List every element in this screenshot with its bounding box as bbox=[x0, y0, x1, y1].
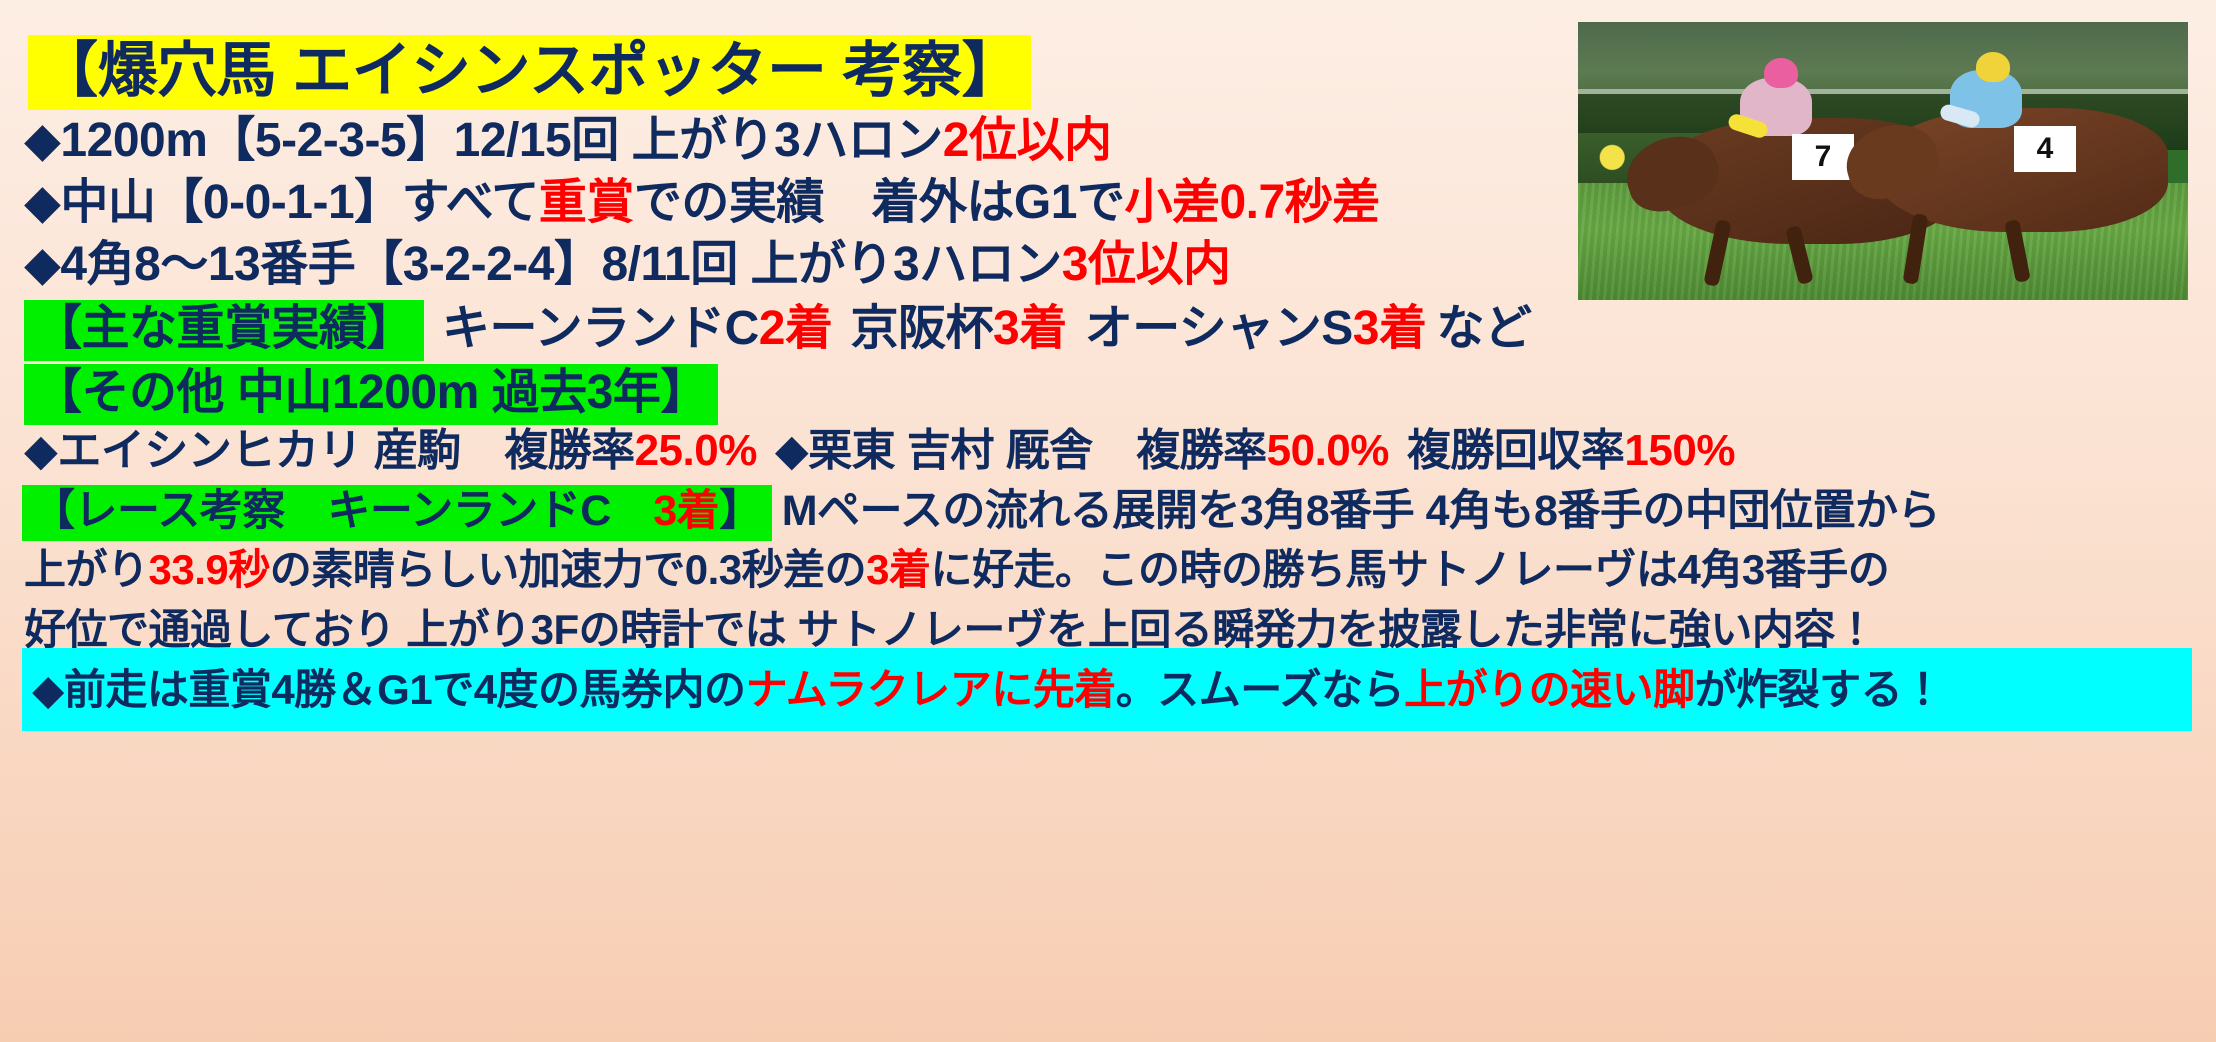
stat-corner-text: 4角8〜13番手【3-2-2-4】8/11回 上がり3ハロン bbox=[60, 238, 1061, 291]
result-etc-label: など bbox=[1436, 302, 1531, 355]
conclusion-emphasis-rival: ナムラクレアに先着 bbox=[746, 666, 1116, 713]
stat-nakayama-text-2: での実績 着外はG1で bbox=[634, 176, 1125, 229]
bullet-diamond-icon: ◆ bbox=[24, 426, 57, 475]
race-review-header-text: 【レース考察 キーンランドC bbox=[32, 487, 653, 535]
bullet-diamond-icon: ◆ bbox=[24, 114, 60, 167]
result-ocean-stakes-label: オーシャンS bbox=[1085, 302, 1353, 355]
stat-line-distance: ◆1200m【5-2-3-5】12/15回 上がり3ハロン2位以内 bbox=[24, 100, 1111, 170]
stat-corner-emphasis: 3位以内 bbox=[1062, 238, 1231, 291]
result-keeneland-cup-place: 2着 bbox=[759, 302, 833, 355]
conclusion-text-3: が炸裂する！ bbox=[1695, 666, 1944, 713]
other-stats-header-line: 【その他 中山1200m 過去3年】 bbox=[24, 352, 718, 422]
race-review-body-2c: に好走。この時の勝ち馬サトノレーヴは4角3番手の bbox=[931, 546, 1890, 593]
stat-nakayama-emphasis-grade: 重賞 bbox=[539, 176, 634, 229]
bullet-diamond-icon: ◆ bbox=[24, 176, 60, 229]
race-review-body-1: Mペースの流れる展開を3角8番手 4角も8番手の中団位置から bbox=[782, 487, 1940, 535]
result-keeneland-cup-label: キーンランドC bbox=[442, 302, 759, 355]
race-photo-canvas: 7 4 bbox=[1578, 22, 2188, 300]
bullet-diamond-icon: ◆ bbox=[24, 238, 60, 291]
conclusion-text-1: 前走は重賞4勝＆G1で4度の馬券内の bbox=[64, 666, 746, 713]
stat-nakayama-emphasis-margin: 小差0.7秒差 bbox=[1124, 176, 1379, 229]
sire-stat-value: 25.0% bbox=[635, 426, 757, 475]
finish-place-value: 3着 bbox=[866, 546, 930, 593]
roi-stat-value: 150% bbox=[1624, 426, 1735, 475]
stat-line-corner-position: ◆4角8〜13番手【3-2-2-4】8/11回 上がり3ハロン3位以内 bbox=[24, 224, 1230, 294]
other-stats-line: ◆エイシンヒカリ 産駒 複勝率25.0%◆栗東 吉村 厩舎 複勝率50.0%複勝… bbox=[24, 414, 1735, 478]
major-graded-results-line: 【主な重賞実績】キーンランドC2着京阪杯3着オーシャンS3着など bbox=[24, 288, 1531, 358]
conclusion-text-2: 。スムーズなら bbox=[1116, 666, 1404, 713]
trainer-stat-value: 50.0% bbox=[1267, 426, 1389, 475]
stat-distance-emphasis: 2位以内 bbox=[943, 114, 1112, 167]
race-review-body-2a: 上がり bbox=[24, 546, 149, 593]
jockey-helmet-pink bbox=[1764, 58, 1798, 88]
race-review-header: 【レース考察 キーンランドC 3着】 bbox=[22, 485, 772, 541]
conclusion-line: ◆前走は重賞4勝＆G1で4度の馬券内のナムラクレアに先着。スムーズなら上がりの速… bbox=[22, 648, 2192, 731]
trainer-stat-label: 栗東 吉村 厩舎 複勝率 bbox=[808, 426, 1266, 475]
sire-stat-label: エイシンヒカリ 産駒 複勝率 bbox=[57, 426, 634, 475]
stat-nakayama-text: 中山【0-0-1-1】すべて bbox=[60, 176, 538, 229]
result-keihan-hai-place: 3着 bbox=[993, 302, 1067, 355]
result-ocean-stakes-place: 3着 bbox=[1353, 302, 1427, 355]
jockey-helmet-yellow bbox=[1976, 52, 2010, 82]
conclusion-emphasis-kick: 上がりの速い脚 bbox=[1404, 666, 1695, 713]
race-review-line-2: 上がり33.9秒の素晴らしい加速力で0.3秒差の3着に好走。この時の勝ち馬サトノ… bbox=[24, 536, 1889, 597]
saddlecloth-number: 7 bbox=[1792, 134, 1854, 180]
stat-distance-text: 1200m【5-2-3-5】12/15回 上がり3ハロン bbox=[60, 114, 942, 167]
stat-line-nakayama: ◆中山【0-0-1-1】すべて重賞での実績 着外はG1で小差0.7秒差 bbox=[24, 162, 1380, 232]
last-3f-time-value: 33.9秒 bbox=[149, 546, 270, 593]
race-review-body-3: 好位で通過しており 上がり3Fの時計では サトノレーヴを上回る瞬発力を披露した非… bbox=[24, 606, 1876, 653]
roi-stat-label: 複勝回収率 bbox=[1407, 426, 1625, 475]
race-review-header-place: 3着 bbox=[653, 487, 719, 535]
bullet-diamond-icon: ◆ bbox=[775, 426, 808, 475]
poster-root: 7 4 【爆穴馬 エイシンスポッター 考察】 ◆1200m【5-2-3-5】12… bbox=[0, 0, 2216, 1042]
race-photo: 7 4 bbox=[1578, 22, 2188, 300]
race-review-header-close: 】 bbox=[719, 487, 762, 535]
result-keihan-hai-label: 京阪杯 bbox=[850, 302, 993, 355]
saddlecloth-number: 4 bbox=[2014, 126, 2076, 172]
race-review-line-1: 【レース考察 キーンランドC 3着】Mペースの流れる展開を3角8番手 4角も8番… bbox=[22, 476, 1940, 538]
race-review-body-2b: の素晴らしい加速力で0.3秒差の bbox=[270, 546, 866, 593]
bullet-diamond-icon: ◆ bbox=[32, 666, 64, 713]
page-title-text: 【爆穴馬 エイシンスポッター 考察】 bbox=[28, 35, 1031, 110]
page-title: 【爆穴馬 エイシンスポッター 考察】 bbox=[28, 22, 1031, 109]
